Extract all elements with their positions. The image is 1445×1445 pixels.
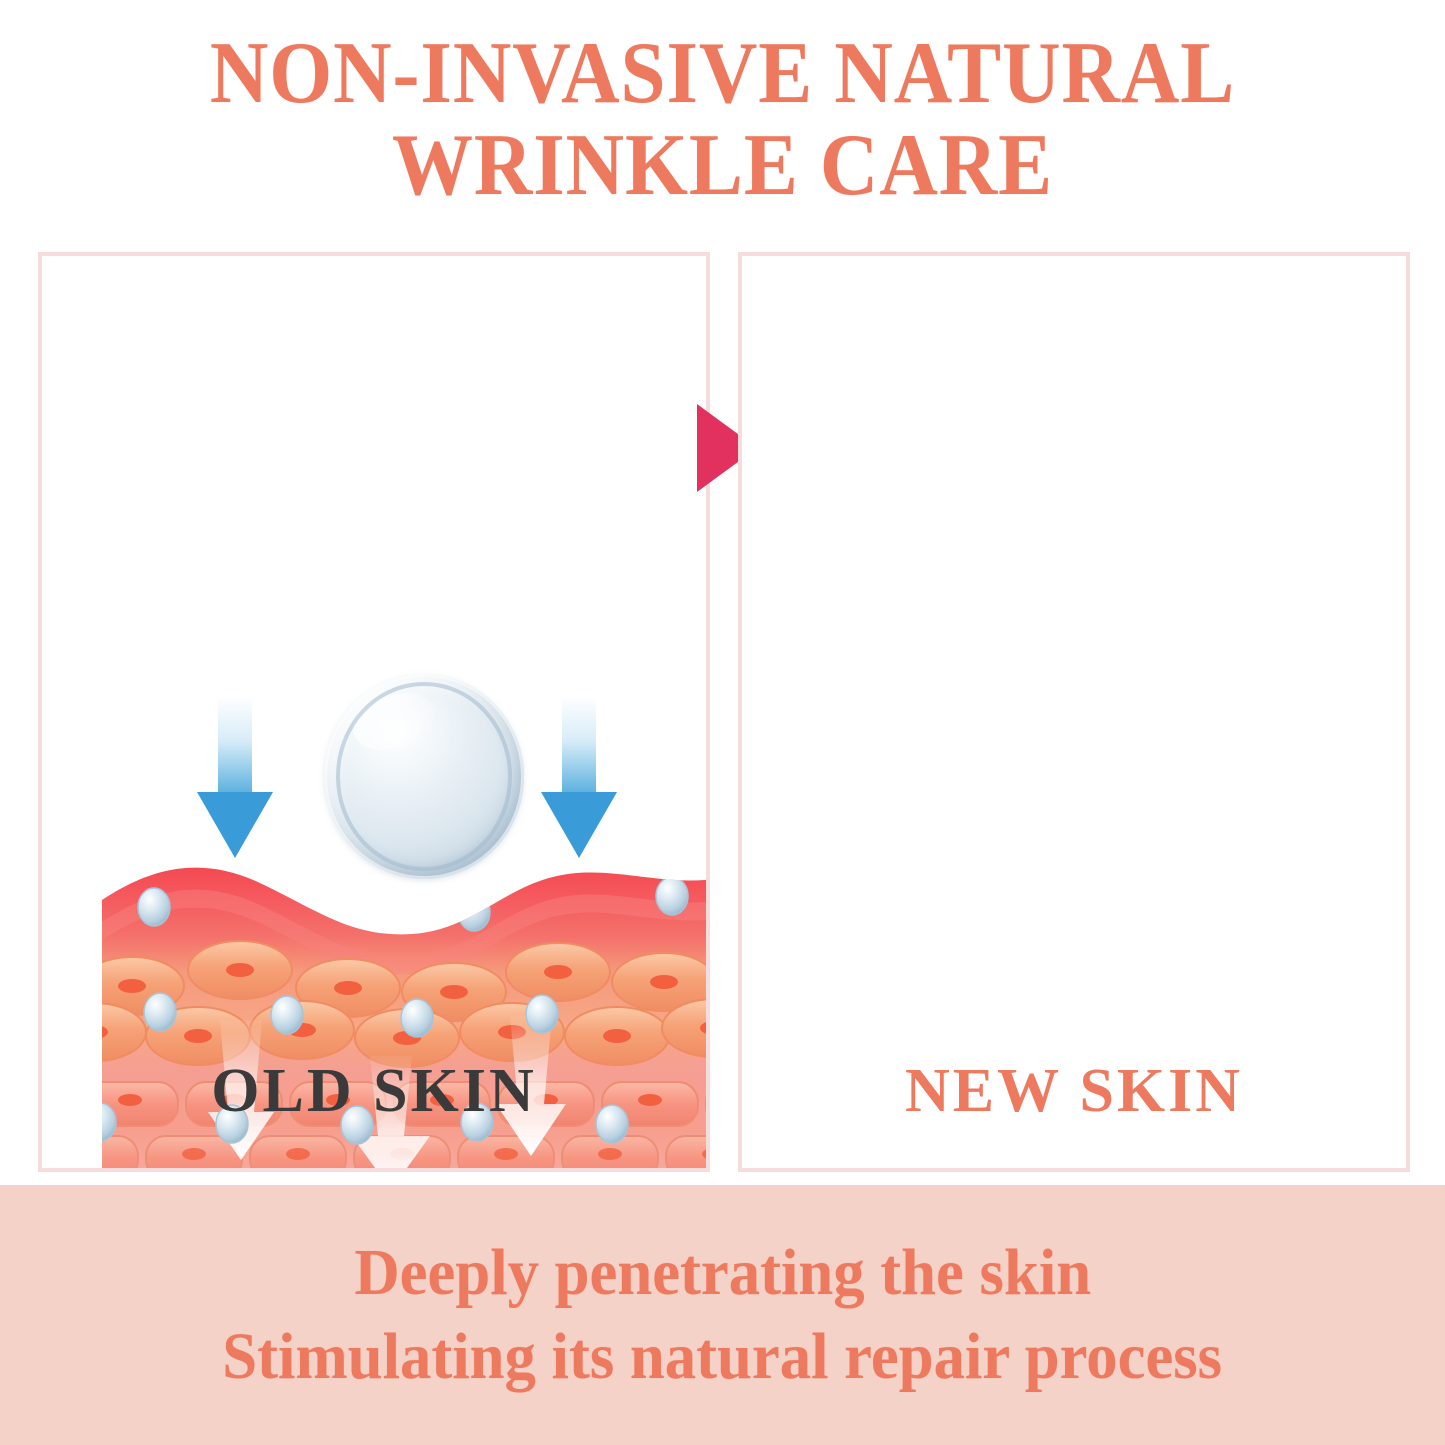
arrow-shaft bbox=[218, 696, 252, 796]
title-line-2: WRINKLE CARE bbox=[58, 120, 1387, 212]
arrow-head bbox=[197, 792, 273, 858]
panel-old-skin: OLD SKIN bbox=[38, 252, 710, 1172]
banner-line-2: Stimulating its natural repair process bbox=[223, 1315, 1223, 1399]
arrow-head bbox=[541, 792, 617, 858]
blue-down-arrow-icon bbox=[197, 696, 273, 856]
water-droplet-icon bbox=[324, 674, 524, 879]
bottom-banner: Deeply penetrating the skin Stimulating … bbox=[0, 1185, 1445, 1445]
arrow-shaft bbox=[562, 696, 596, 796]
panel-new-skin: NEW SKIN bbox=[738, 252, 1410, 1172]
blue-down-arrow-icon bbox=[541, 696, 617, 856]
page-title: NON-INVASIVE NATURAL WRINKLE CARE bbox=[0, 28, 1445, 212]
infographic-canvas: NON-INVASIVE NATURAL WRINKLE CARE bbox=[0, 0, 1445, 1445]
panel-label-new-skin: NEW SKIN bbox=[742, 1056, 1406, 1127]
title-line-1: NON-INVASIVE NATURAL bbox=[58, 28, 1387, 120]
banner-line-1: Deeply penetrating the skin bbox=[354, 1231, 1091, 1315]
panel-label-old-skin: OLD SKIN bbox=[42, 1056, 706, 1127]
